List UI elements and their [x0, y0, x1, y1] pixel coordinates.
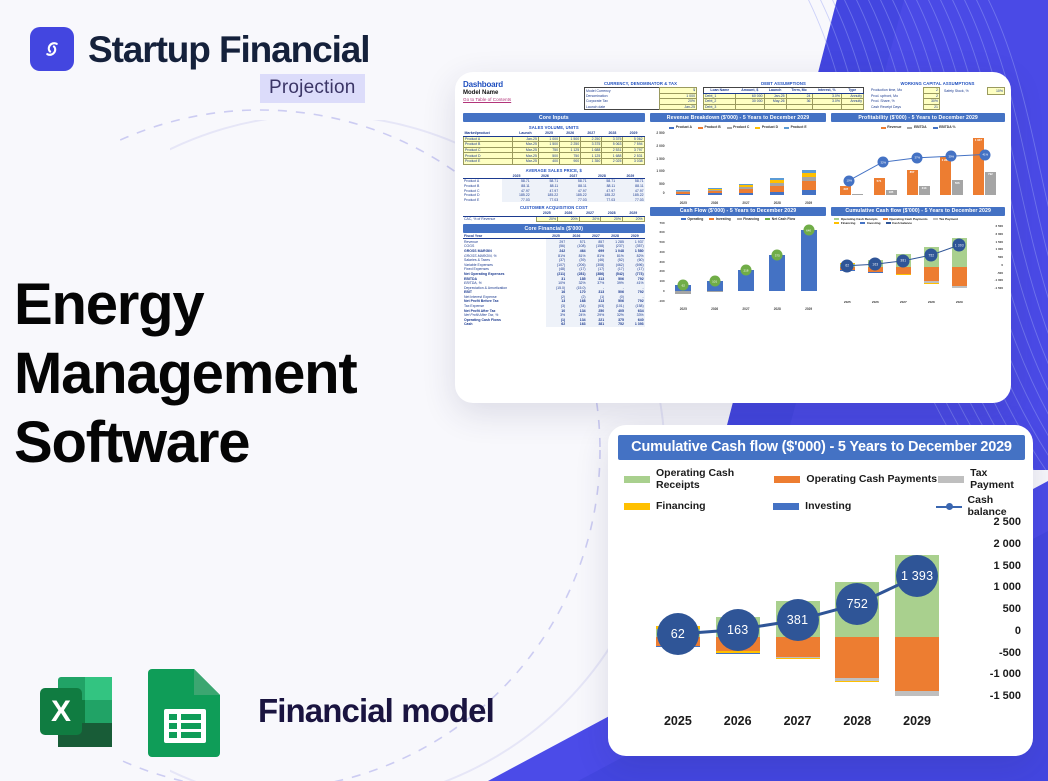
legend-item: Operating — [681, 217, 704, 221]
cac-table: 2025 2026 2027 2028 2029 CAC, % of Reven… — [463, 211, 645, 222]
core-inputs-band: Core Inputs — [463, 113, 645, 122]
cash-flow-chart: 7006005004003002001000-100 6210121837564… — [650, 223, 827, 311]
sales-volume-caption: SALES VOLUME, UNITS — [463, 124, 645, 131]
legend-item: Financing — [737, 217, 760, 221]
y-tick: 0 — [663, 289, 665, 293]
y-tick: 400 — [659, 250, 664, 254]
chart-bars: 621633817521 393 — [648, 528, 947, 702]
legend-item-financing: Financing — [624, 494, 773, 518]
cumulative-cashflow-mini-legend: Operating Cash Receipts Operating Cash P… — [831, 216, 1005, 226]
y-tick: 2 500 — [995, 224, 1003, 228]
data-marker: 62 — [678, 280, 689, 291]
currency-heading: CURRENCY, DENOMINATOR & TAX — [584, 80, 697, 87]
data-marker: 163 — [869, 258, 882, 271]
y-tick: 1 500 — [995, 240, 1003, 244]
revenue-breakdown-title: Revenue Breakdown ($'000) - 5 Years to D… — [650, 113, 827, 122]
chart-title: Cumulative Cash flow ($'000) - 5 Years t… — [618, 435, 1025, 460]
x-tick: 2029 — [888, 714, 946, 728]
chart-legend: Operating Cash Receipts Operating Cash P… — [624, 467, 1023, 518]
table-row: Safety Stock, %10% — [943, 88, 1005, 95]
y-tick: -500 — [999, 647, 1021, 659]
infinity-e-logo-icon — [30, 27, 74, 71]
chart-plot-area: 621633817521 393 2 5002 0001 5001 000500… — [624, 528, 1025, 728]
currency-rows: Model Currency$ Denomination1 000 Corpor… — [584, 88, 696, 110]
cac-caption: CUSTOMER ACQUISITION COST — [463, 204, 645, 211]
bar-segment — [802, 181, 816, 190]
x-tick: 2025 — [649, 714, 707, 728]
y-tick: 600 — [659, 230, 664, 234]
legend-swatch — [624, 503, 650, 510]
bar-column — [676, 133, 690, 195]
legend-item: Investing — [860, 221, 880, 225]
legend-item: Financing — [834, 221, 855, 225]
legend-item-operating-cash-payments: Operating Cash Payments — [774, 467, 938, 491]
data-marker: 752 — [925, 249, 938, 262]
bar-column: 375 — [769, 225, 785, 301]
legend-item: Product E — [784, 125, 807, 129]
x-tick: 2027 — [768, 714, 826, 728]
poster-canvas: Startup Financial Projection Energy Mana… — [0, 0, 1048, 781]
x-tick: 2028 — [928, 300, 935, 304]
legend-swatch — [938, 476, 964, 483]
y-tick: 700 — [659, 221, 664, 225]
working-capital-table: Production time, Mo2 Prod. upfront, Mo2 … — [870, 87, 940, 110]
x-axis-labels: 2025 2026 2027 2028 2029 — [648, 714, 947, 728]
dashboard-screenshot-card[interactable]: Dashboard Model Name Go to Table of Cont… — [455, 72, 1011, 403]
sales-volume-table: Market/product Launch 2025 2026 2027 202… — [463, 131, 645, 165]
table-row: Cash Receipt Days21 — [870, 104, 940, 110]
brand-subtitle-wrap: Projection — [260, 74, 365, 103]
legend-line-marker — [936, 502, 962, 511]
y-tick: 200 — [659, 269, 664, 273]
legend-item: Cash balance — [886, 221, 912, 225]
table-cell: 1 393 — [625, 322, 645, 327]
data-marker: 640 — [803, 225, 814, 236]
legend-item: Net Cash Flow — [765, 217, 795, 221]
table-row: Launch dateJan-25 — [584, 104, 696, 110]
bar-segment — [802, 190, 816, 195]
y-tick: 2 000 — [995, 232, 1003, 236]
y-tick: 100 — [659, 279, 664, 283]
legend-swatch — [774, 476, 800, 483]
y-tick: 500 — [1003, 603, 1021, 615]
data-marker: 62 — [841, 259, 854, 272]
y-axis-labels: 2 5002 0001 5001 0005000-500-1 000-1 500 — [953, 520, 1025, 710]
currency-table: Model Currency$ Denomination1 000 Corpor… — [584, 87, 697, 110]
y-tick: 0 — [1001, 263, 1003, 267]
legend-item: EBITDA % — [933, 125, 956, 129]
legend-item: Product A — [669, 125, 692, 129]
bar-segment — [676, 194, 690, 195]
legend-item-operating-cash-receipts: Operating Cash Receipts — [624, 467, 774, 491]
cumulative-cashflow-card[interactable]: Cumulative Cash flow ($'000) - 5 Years t… — [608, 425, 1033, 756]
table-row: Debt_3 — [704, 104, 864, 110]
bar-negative — [675, 291, 691, 294]
y-tick: -100 — [658, 299, 664, 303]
svg-text:X: X — [51, 695, 71, 728]
page-title: Energy Management Software — [14, 270, 434, 477]
bar-column — [802, 133, 816, 195]
y-tick: 0 — [1015, 625, 1021, 637]
data-marker: 101 — [709, 276, 720, 287]
bar-segment — [708, 193, 722, 194]
legend-item: Product C — [727, 125, 750, 129]
table-cell: 752 — [605, 322, 625, 327]
bar-column — [770, 133, 784, 195]
data-marker: 37% — [912, 152, 923, 163]
google-sheets-icon — [144, 663, 226, 759]
y-tick: 500 — [998, 255, 1003, 259]
data-marker: 163 — [717, 609, 759, 651]
data-marker: 381 — [897, 254, 910, 267]
x-tick: 2029 — [956, 300, 963, 304]
table-row: Product E77.0377.0377.0377.0377.03 — [463, 198, 645, 203]
table-row: CAC, % of Revenue20%20%20%20%20% — [463, 216, 644, 222]
legend-item: Tax Payment — [933, 217, 958, 221]
y-tick: 1 000 — [993, 581, 1021, 593]
legend-item-investing: Investing — [773, 494, 935, 518]
data-marker: 39% — [946, 151, 957, 162]
x-tick: 2026 — [709, 714, 767, 728]
data-marker: 1 393 — [896, 555, 938, 597]
legend-item: Investing — [709, 217, 730, 221]
legend-item: EBITDA — [907, 125, 926, 129]
legend-item: Revenue — [881, 125, 902, 129]
core-financials-rows: Revenue2975718571 2851 937COGS(56)(108)(… — [463, 239, 645, 327]
bar-column — [708, 133, 722, 195]
data-marker: 752 — [836, 583, 878, 625]
safety-stock-table: Safety Stock, %10% — [943, 87, 1005, 95]
bar-column: 101 — [707, 225, 723, 301]
x-tick: 2027 — [900, 300, 907, 304]
bar-column: 218 — [738, 225, 754, 301]
data-marker: 1 393 — [953, 239, 966, 252]
cumulative-cashflow-mini-chart: 621633817521 3932 5002 0001 5001 0005000… — [831, 226, 1005, 304]
revenue-breakdown-chart: 2 500 2 000 1 500 1 000 500 0 2025 2026 … — [650, 131, 827, 205]
legend-swatch — [773, 503, 799, 510]
bar-segment — [739, 193, 753, 195]
brand-subtitle: Projection — [260, 74, 365, 103]
avg-price-table: 2025 2026 2027 2028 2029 Product A58.715… — [463, 174, 645, 203]
legend-item: Product B — [698, 125, 721, 129]
brand-title: Startup Financial — [88, 31, 369, 68]
wc-heading: WORKING CAPITAL ASSUMPTIONS — [870, 80, 1005, 87]
bar — [801, 230, 817, 291]
profitability-title: Profitability ($'000) - 5 Years to Decem… — [831, 113, 1005, 122]
data-marker: 381 — [777, 599, 819, 641]
data-marker: 10% — [844, 175, 855, 186]
y-tick: -1 000 — [994, 278, 1003, 282]
x-tick: 2028 — [828, 714, 886, 728]
y-tick: 1 500 — [993, 560, 1021, 572]
core-financials-band: Core Financials ($'000) — [463, 224, 645, 233]
legend-item-cash-balance: Cash balance — [936, 494, 1023, 518]
bar-column — [739, 133, 753, 195]
x-tick: 2025 — [844, 300, 851, 304]
cash-flow-title: Cash Flow ($'000) - 5 Years to December … — [650, 207, 827, 216]
debt-table: Loan Name Amount, $ Launch Term, Mo Inte… — [703, 87, 864, 110]
bar-negative — [707, 291, 723, 292]
table-row: Cash621633817521 393 — [463, 322, 645, 327]
legend-item-tax-payment: Tax Payment — [938, 467, 1023, 491]
data-marker: 32% — [878, 157, 889, 168]
y-tick: 500 — [659, 240, 664, 244]
y-tick: 300 — [659, 260, 664, 264]
y-tick: -1 000 — [990, 668, 1021, 680]
y-tick: 2 000 — [993, 538, 1021, 550]
x-tick: 2026 — [872, 300, 879, 304]
format-badges: X Financial model — [28, 663, 494, 759]
table-cell: 381 — [587, 322, 606, 327]
data-marker: 62 — [657, 613, 699, 655]
core-financials-table: Fiscal Year 2025 2026 2027 2028 2029 Rev… — [463, 234, 645, 327]
brand-logo: Startup Financial — [30, 27, 369, 71]
profitability-legend: Revenue EBITDA EBITDA % — [831, 124, 1005, 131]
y-tick: -500 — [997, 271, 1003, 275]
toc-link[interactable]: Go to Table of Contents — [463, 97, 578, 102]
legend-item: Product D — [755, 125, 778, 129]
table-cell: 62 — [546, 322, 566, 327]
cash-flow-legend: Operating Investing Financing Net Cash F… — [650, 216, 827, 223]
y-tick: 1 000 — [995, 247, 1003, 251]
microsoft-excel-icon: X — [28, 663, 124, 759]
avg-price-caption: AVERAGE SALES PRICE, $ — [463, 167, 645, 174]
dashboard-content: Dashboard Model Name Go to Table of Cont… — [463, 80, 1005, 399]
cumulative-cashflow-mini-title: Cumulative Cash flow ($'000) - 5 Years t… — [831, 207, 1005, 216]
debt-heading: DEBT ASSUMPTIONS — [703, 80, 864, 87]
financial-model-label: Financial model — [258, 692, 494, 730]
legend-swatch — [624, 476, 650, 483]
profitability-chart: 297315711858573131 2855061 93779210%32%3… — [831, 131, 1005, 205]
bar-column: 62 — [675, 225, 691, 301]
dashboard-title: Dashboard — [463, 80, 578, 89]
data-marker: 41% — [980, 149, 991, 160]
dashboard-model-name: Model Name — [463, 90, 578, 96]
y-tick: -1 500 — [990, 690, 1021, 702]
table-row: Product EMar-254009001 3502 0253 038 — [464, 158, 645, 164]
table-cell: Cash — [463, 322, 546, 327]
bar-column: 640 — [801, 225, 817, 301]
y-tick: -1 500 — [994, 286, 1003, 290]
y-tick: 2 500 — [993, 516, 1021, 528]
table-cell: 163 — [566, 322, 586, 327]
data-marker: 375 — [772, 250, 783, 261]
revenue-breakdown-legend: Product A Product B Product C Product D … — [650, 124, 827, 131]
data-marker: 218 — [740, 265, 751, 276]
bar-segment — [770, 192, 784, 195]
